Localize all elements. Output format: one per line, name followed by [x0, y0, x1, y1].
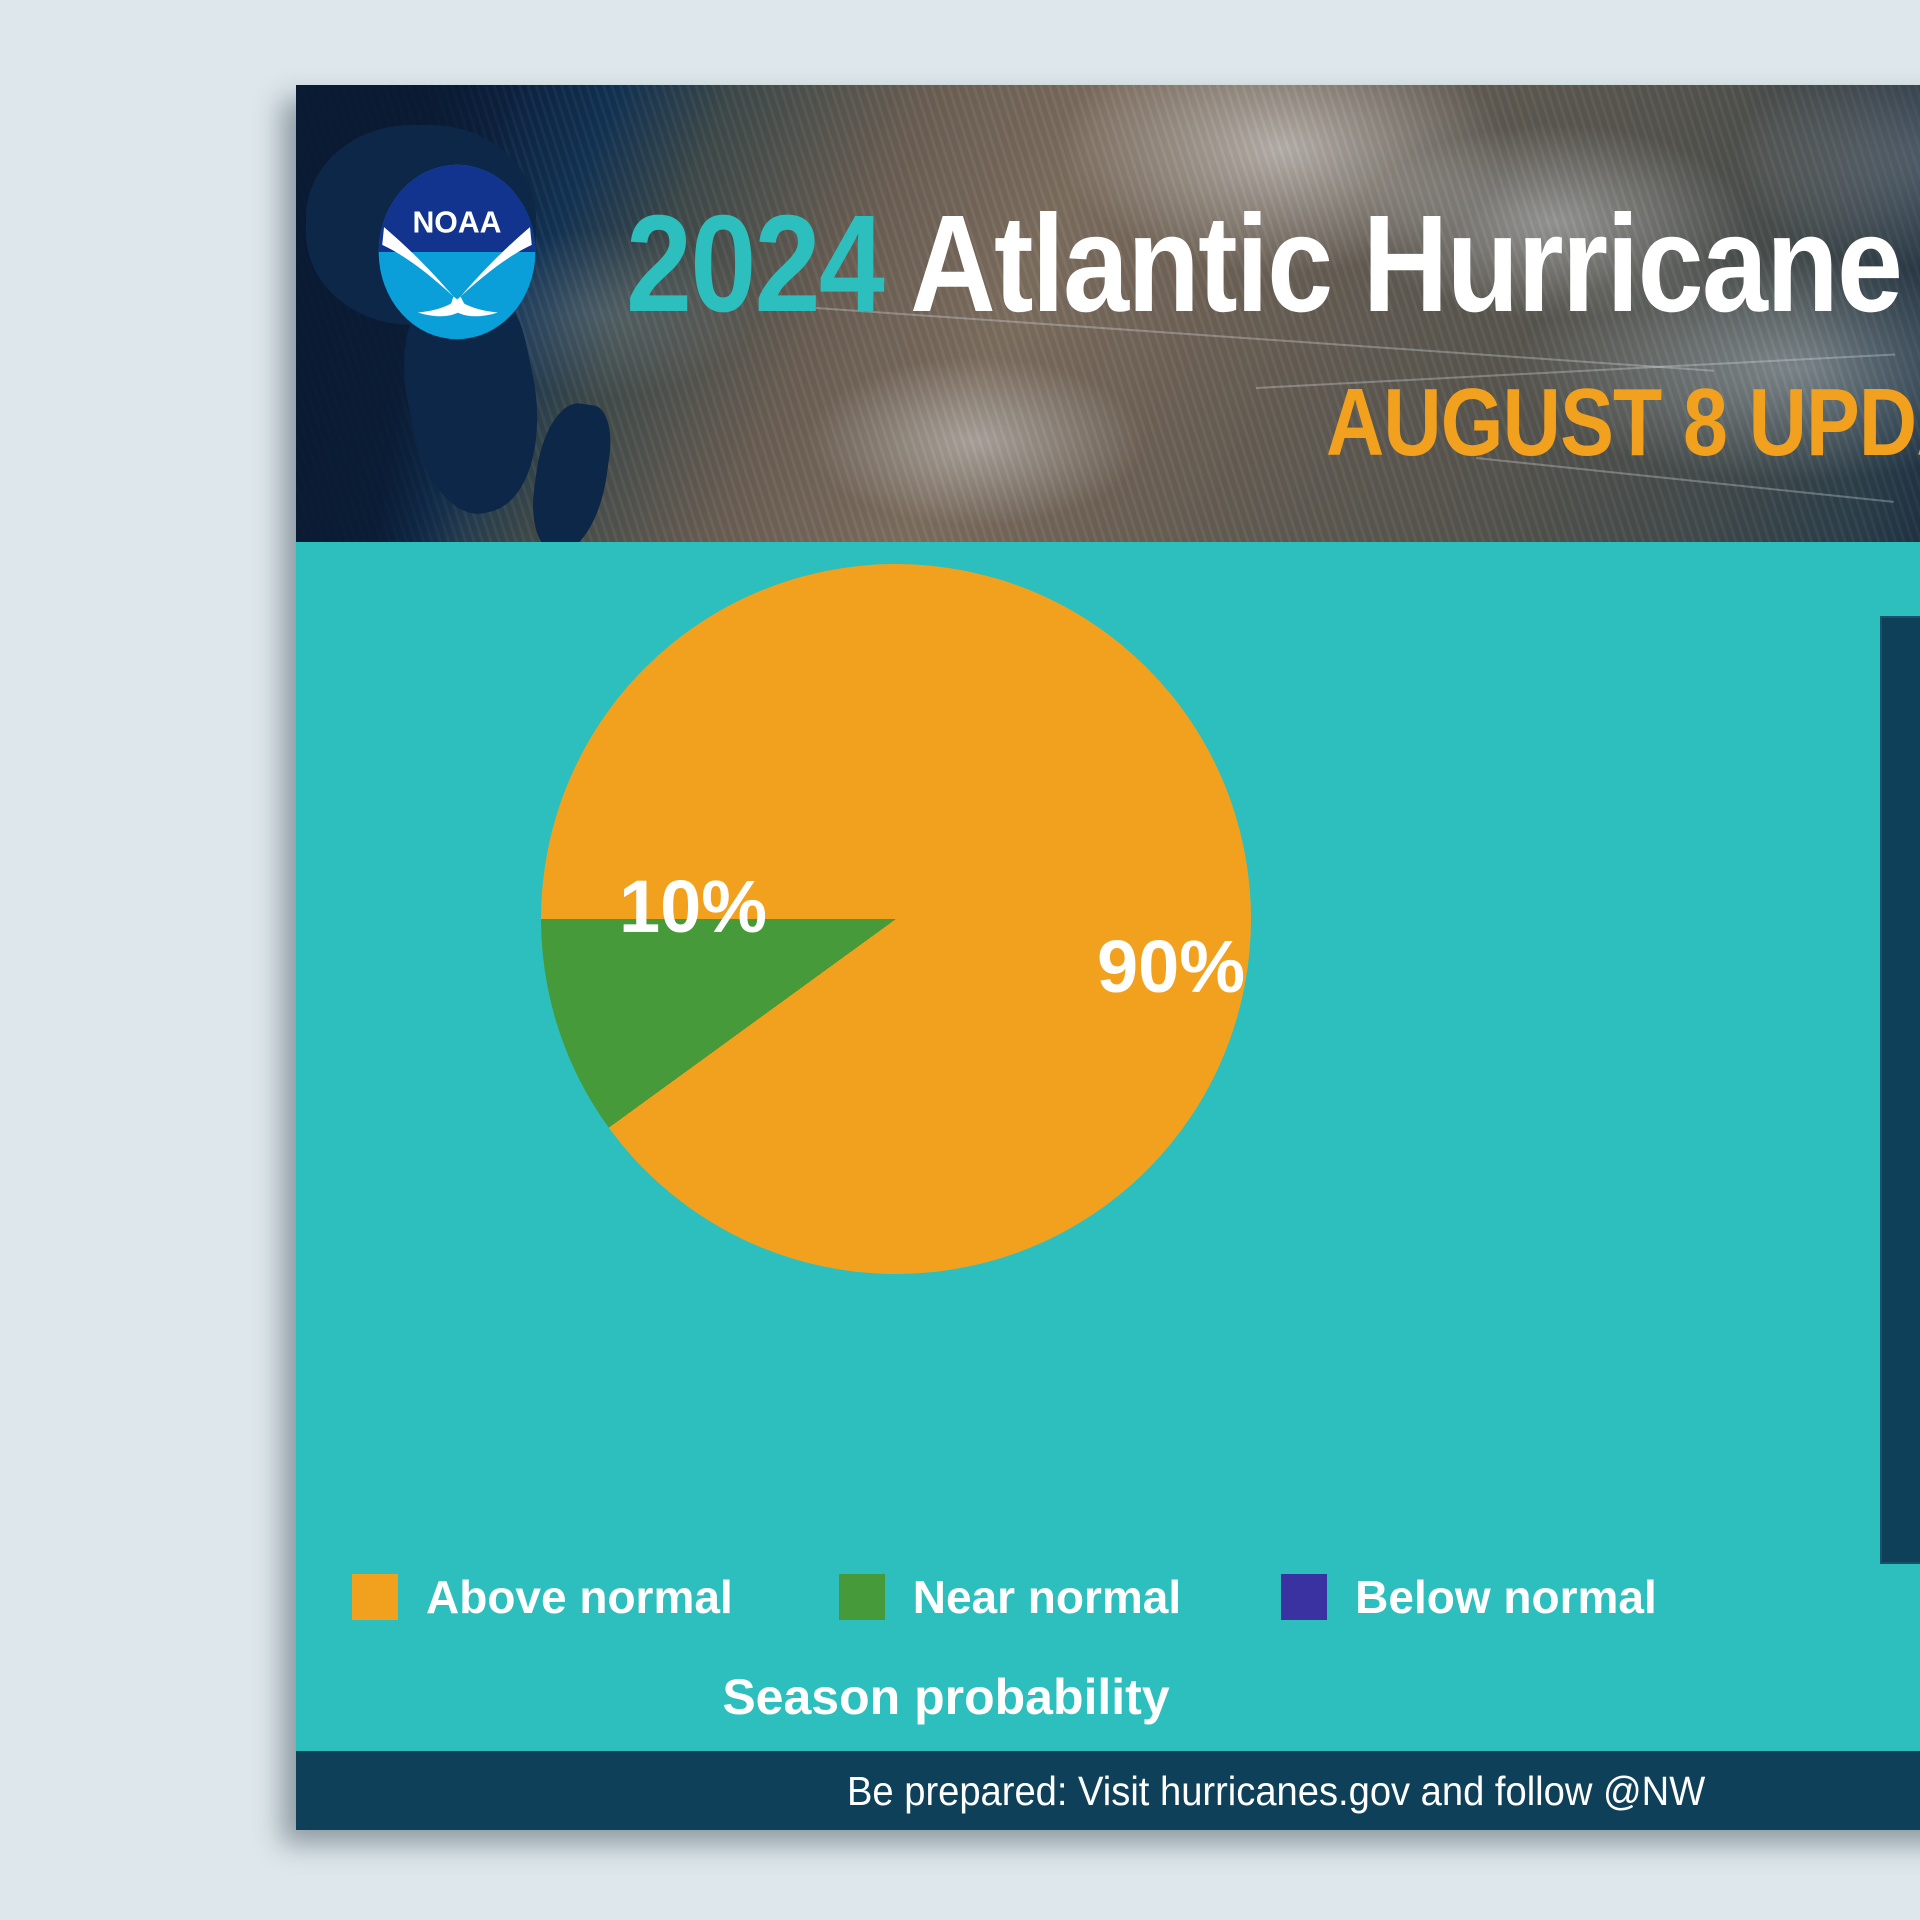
legend-item-below-normal: Below normal [1281, 1574, 1657, 1620]
banner-subtitle: AUGUST 8 UPDATE [1326, 375, 1920, 471]
legend-swatch-above-normal [352, 1574, 398, 1620]
banner-title-rest: Atlantic Hurricane [883, 187, 1901, 341]
banner-title: 2024 Atlantic Hurricane [626, 195, 1901, 333]
banner-title-year: 2024 [626, 187, 883, 341]
legend-swatch-below-normal [1281, 1574, 1327, 1620]
legend-label-near-normal: Near normal [913, 1574, 1181, 1620]
banner-header: NOAA 2024 Atlantic Hurricane AUGUST 8 UP… [296, 85, 1920, 542]
legend-item-near-normal: Near normal [839, 1574, 1181, 1620]
footer-bar: Be prepared: Visit hurricanes.gov and fo… [296, 1751, 1920, 1830]
chart-area: 10% 90% Above normal Near normal Below n… [296, 542, 1920, 1751]
pie-chart: 10% 90% [541, 564, 1251, 1274]
chart-axis-label: Season probability [296, 1672, 1596, 1722]
legend-label-above-normal: Above normal [426, 1574, 733, 1620]
legend-item-above-normal: Above normal [352, 1574, 733, 1620]
chart-legend: Above normal Near normal Below normal [296, 1574, 1596, 1620]
pie-label-above-normal: 90% [1097, 930, 1245, 1004]
noaa-logo-icon: NOAA [368, 163, 546, 341]
footer-text: Be prepared: Visit hurricanes.gov and fo… [847, 1771, 1705, 1812]
legend-label-below-normal: Below normal [1355, 1574, 1657, 1620]
noaa-logo-text: NOAA [412, 206, 501, 239]
infographic-card: NOAA 2024 Atlantic Hurricane AUGUST 8 UP… [296, 85, 1920, 1830]
legend-swatch-near-normal [839, 1574, 885, 1620]
page-root: NOAA 2024 Atlantic Hurricane AUGUST 8 UP… [0, 0, 1920, 1920]
side-panel [1880, 616, 1920, 1564]
pie-label-near-normal: 10% [619, 870, 767, 944]
